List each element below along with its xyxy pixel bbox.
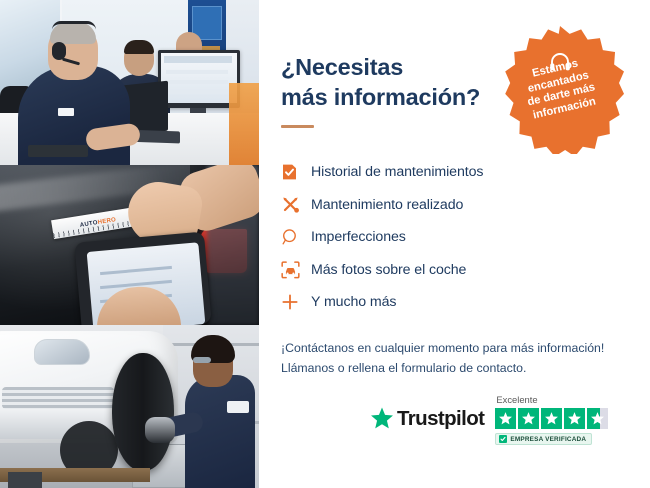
list-item: Más fotos sobre el coche <box>281 254 630 287</box>
trustpilot-logo: Trustpilot <box>369 406 484 431</box>
headline-line-2: más información? <box>281 82 501 112</box>
trustpilot-stars <box>495 408 608 429</box>
trustpilot-wordmark: Trustpilot <box>397 407 484 431</box>
photo1-monitor-row <box>166 90 228 94</box>
trustpilot-star-icon <box>369 406 395 431</box>
plus-icon <box>281 293 311 311</box>
page-title: ¿Necesitas más información? <box>281 52 501 112</box>
support-badge: Estamos encantados de darte más informac… <box>496 26 624 154</box>
document-check-icon <box>281 163 311 181</box>
check-icon <box>499 435 507 443</box>
trustpilot-star-1 <box>495 408 516 429</box>
feature-label: Y mucho más <box>311 294 396 310</box>
feature-label: Historial de mantenimientos <box>311 164 483 180</box>
trustpilot-star-4 <box>564 408 585 429</box>
trustpilot-rating-label: Excelente <box>496 394 608 405</box>
photo1-name-badge <box>58 108 74 116</box>
title-underline <box>281 125 314 128</box>
photo3-work-glove <box>145 417 175 443</box>
car-scan-icon <box>281 261 311 279</box>
photo3-grille <box>2 387 114 409</box>
list-item: Y mucho más <box>281 286 630 319</box>
trustpilot-star-2 <box>518 408 539 429</box>
content-panel: ¿Necesitas más información? Estamos enca… <box>259 0 650 488</box>
trustpilot-widget[interactable]: Trustpilot Excelente <box>369 394 608 445</box>
plus-icon-svg <box>281 293 299 311</box>
list-item: Mantenimiento realizado <box>281 189 630 222</box>
promo-card: AUTOHERO <box>0 0 650 488</box>
photo3-safety-glasses <box>193 357 211 363</box>
feature-label: Imperfecciones <box>311 229 406 245</box>
document-check-icon-svg <box>281 163 298 181</box>
contact-copy: ¡Contáctanos en cualquier momento para m… <box>281 339 626 379</box>
tools-cross-icon-svg <box>281 195 300 214</box>
photo-column: AUTOHERO <box>0 0 259 488</box>
trustpilot-star-3 <box>541 408 562 429</box>
photo3-headlight <box>34 339 90 365</box>
photo1-keyboard <box>28 145 88 157</box>
tools-cross-icon <box>281 195 311 214</box>
feature-label: Mantenimiento realizado <box>311 197 463 213</box>
call-center-agents-photo <box>0 0 259 165</box>
contact-line-2: Llámanos o rellena el formulario de cont… <box>281 359 626 379</box>
verified-label: EMPRESA VERIFICADA <box>510 436 586 443</box>
list-item: Historial de mantenimientos <box>281 156 630 189</box>
trustpilot-star-5 <box>587 408 608 429</box>
photo1-agent-two-hair <box>124 40 154 54</box>
photo1-monitor-toolbar <box>164 56 232 63</box>
contact-line-1: ¡Contáctanos en cualquier momento para m… <box>281 339 626 359</box>
photo3-front-tire <box>112 353 174 471</box>
feature-label: Más fotos sobre el coche <box>311 262 466 278</box>
photo3-name-badge <box>227 401 249 413</box>
inspection-ruler-photo: AUTOHERO <box>0 165 259 325</box>
magnifier-icon-svg <box>281 228 299 246</box>
headline-line-1: ¿Necesitas <box>281 54 403 80</box>
list-item: Imperfecciones <box>281 221 630 254</box>
photo3-lift-post <box>8 472 42 488</box>
photo1-headset-band <box>52 21 96 30</box>
car-scan-icon-svg <box>281 261 300 279</box>
mechanic-wheel-photo <box>0 325 259 488</box>
photo1-monitor-row <box>166 80 228 84</box>
trustpilot-rating: Excelente <box>495 394 608 445</box>
feature-list: Historial de mantenimientos Mantenimient… <box>281 156 630 319</box>
magnifier-icon <box>281 228 311 246</box>
verified-company-badge: EMPRESA VERIFICADA <box>495 433 592 445</box>
photo1-monitor-row <box>166 70 228 74</box>
photo1-orange-rack <box>229 83 259 165</box>
